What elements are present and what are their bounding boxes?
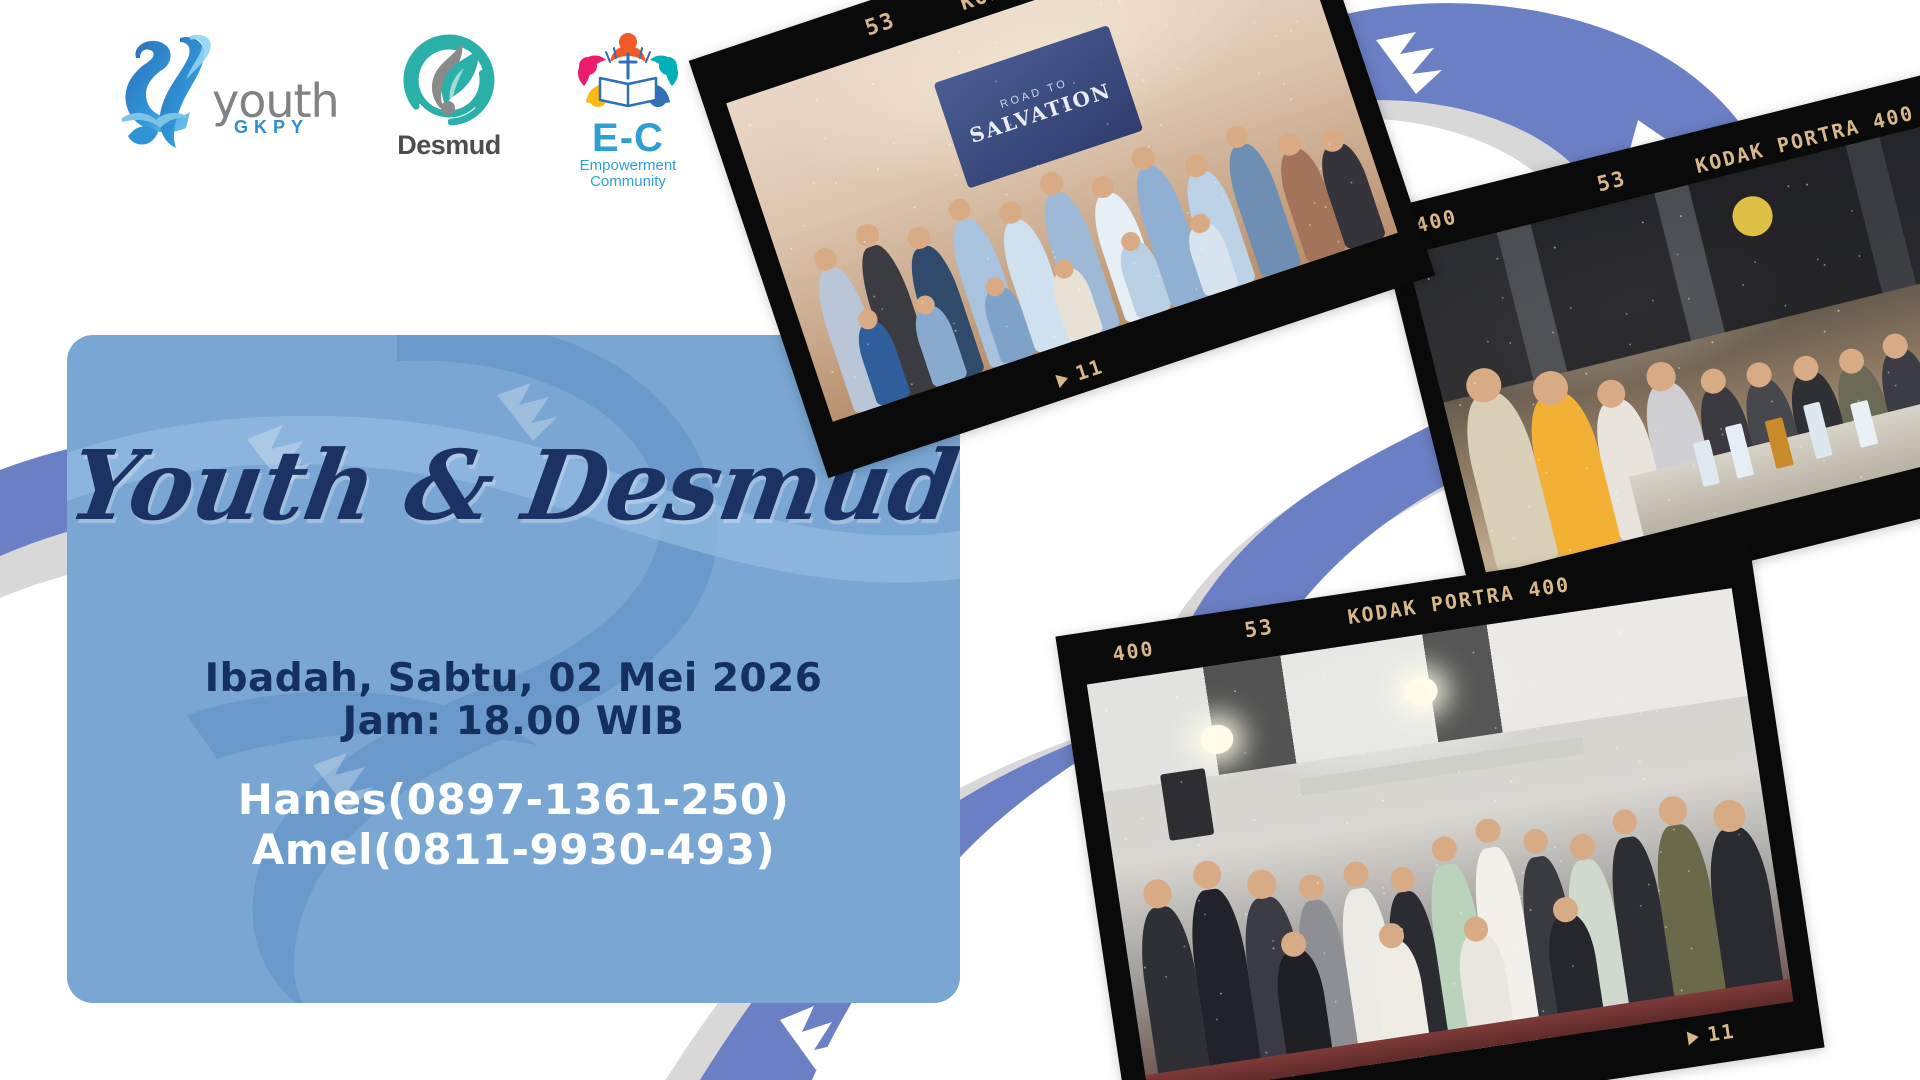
poster-canvas: youth GKPY Desmud <box>0 0 1920 1080</box>
photo-image-2 <box>1407 115 1920 576</box>
film-arrow-icon-3 <box>1687 1030 1700 1045</box>
event-time: Jam: 18.00 WIB <box>67 699 960 744</box>
contact-amel: Amel(0811-9930-493) <box>67 825 960 874</box>
photo-image-1: ROAD TO SALVATION <box>726 0 1398 422</box>
photo-room-group: 400 53 KODAK PORTRA 400 11 <box>1055 533 1824 1080</box>
event-date: Ibadah, Sabtu, 02 Mei 2026 <box>67 656 960 701</box>
photo-image-3 <box>1087 588 1794 1080</box>
logo-youth-gkpy: youth GKPY <box>118 32 336 152</box>
film-frame-number-right-1: 11 <box>1072 354 1106 386</box>
logo-row: youth GKPY Desmud <box>118 32 694 172</box>
logo-ec-wordmark: E-C <box>562 118 694 158</box>
logo-ec: E-C Empowerment Community <box>562 32 694 172</box>
film-arrow-icon-1 <box>1055 371 1070 388</box>
logo-ec-subtext: Empowerment Community <box>562 158 694 190</box>
film-frame-number-right-2: 53 <box>1594 166 1628 196</box>
film-frame-number-extra-3: 11 <box>1706 1019 1737 1047</box>
contact-hanes: Hanes(0897-1361-250) <box>67 775 960 824</box>
film-frame-number-left-1: 53 <box>862 8 899 41</box>
logo-gkpy-subtext: GKPY <box>234 118 309 136</box>
film-frame-number-left-3: 400 <box>1111 636 1156 666</box>
desmud-flame-icon <box>388 32 510 128</box>
logo-desmud: Desmud <box>388 32 510 164</box>
ec-people-book-icon <box>562 32 694 120</box>
photo-cafe-group: 400 53 KODAK PORTRA 400 <box>1375 61 1920 628</box>
logo-desmud-wordmark: Desmud <box>388 132 510 159</box>
film-frame-number-right-3: 53 <box>1243 614 1276 642</box>
